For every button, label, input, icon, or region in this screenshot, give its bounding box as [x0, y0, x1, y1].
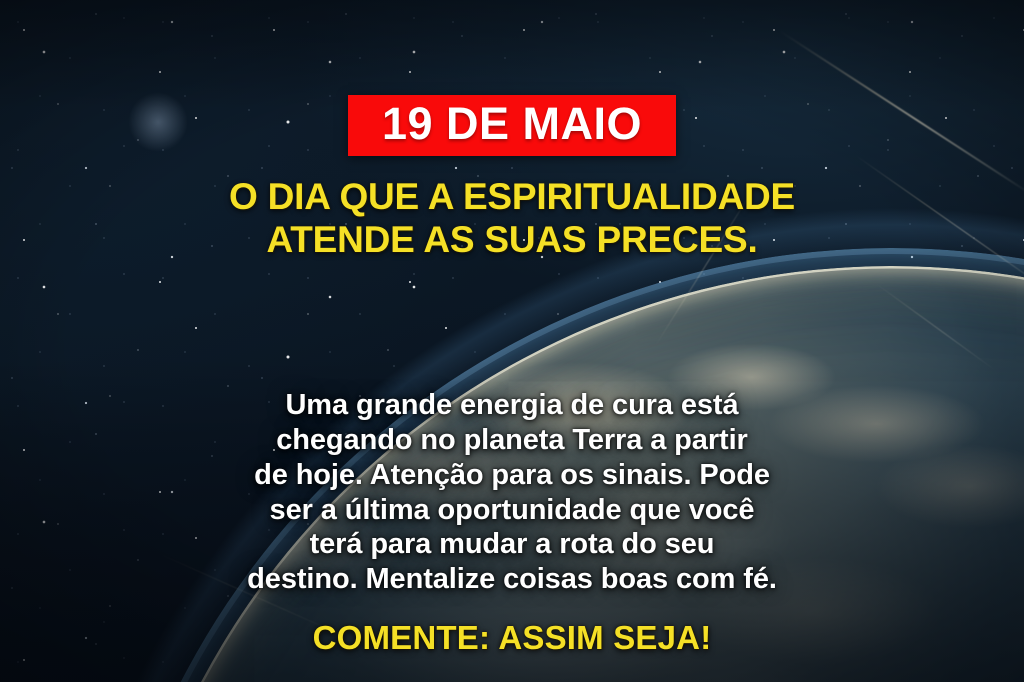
- body-copy: Uma grande energia de cura está chegando…: [227, 388, 797, 597]
- headline: O DIA QUE A ESPIRITUALIDADE ATENDE AS SU…: [229, 176, 795, 262]
- body-line-5: terá para mudar a rota do seu: [247, 527, 777, 562]
- headline-line-2: ATENDE AS SUAS PRECES.: [229, 219, 795, 262]
- body-line-4: ser a última oportunidade que você: [247, 493, 777, 528]
- call-to-action: COMENTE: ASSIM SEJA!: [313, 619, 712, 657]
- body-line-2: chegando no planeta Terra a partir: [247, 423, 777, 458]
- body-line-3: de hoje. Atenção para os sinais. Pode: [247, 458, 777, 493]
- poster: 19 DE MAIO O DIA QUE A ESPIRITUALIDADE A…: [0, 0, 1024, 685]
- poster-content: 19 DE MAIO O DIA QUE A ESPIRITUALIDADE A…: [0, 0, 1024, 685]
- date-banner-label: 19 DE MAIO: [382, 101, 642, 146]
- body-line-1: Uma grande energia de cura está: [247, 388, 777, 423]
- body-line-6: destino. Mentalize coisas boas com fé.: [247, 562, 777, 597]
- date-banner: 19 DE MAIO: [348, 95, 676, 156]
- headline-line-1: O DIA QUE A ESPIRITUALIDADE: [229, 176, 795, 219]
